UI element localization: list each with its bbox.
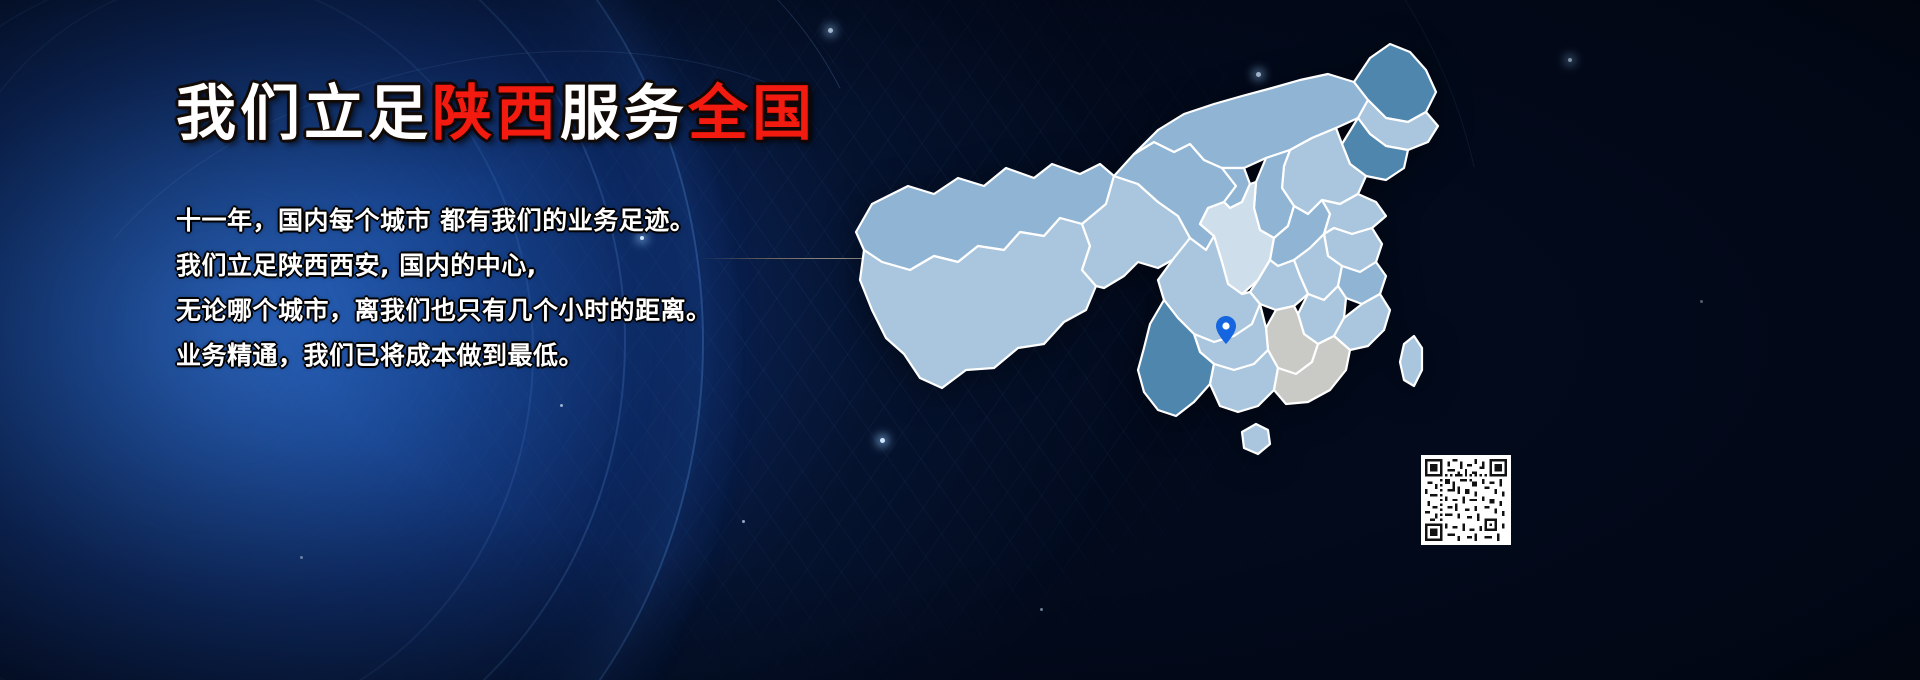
body-copy: 十一年，国内每个城市 都有我们的业务足迹。 我们立足陕西西安, 国内的中心, 无… xyxy=(176,198,712,378)
headline-segment-1: 我们立足 xyxy=(176,79,432,149)
qr-code[interactable] xyxy=(1421,455,1511,545)
headline: 我们立足陕西服务全国 xyxy=(176,84,816,144)
body-line-3: 无论哪个城市，离我们也只有几个小时的距离。 xyxy=(176,288,712,333)
headline-segment-3: 服务 xyxy=(560,79,688,149)
body-line-4: 业务精通，我们已将成本做到最低。 xyxy=(176,333,712,378)
body-line-2: 我们立足陕西西安, 国内的中心, xyxy=(176,243,712,288)
headline-segment-2-accent: 陕西 xyxy=(432,79,560,149)
location-pin-icon[interactable] xyxy=(1216,316,1236,344)
banner-stage: 我们立足陕西服务全国 十一年，国内每个城市 都有我们的业务足迹。 我们立足陕西西… xyxy=(0,0,1920,680)
map-region-taiwan xyxy=(1400,336,1422,386)
map-region-hainan xyxy=(1242,424,1270,454)
body-line-1: 十一年，国内每个城市 都有我们的业务足迹。 xyxy=(176,198,712,243)
headline-segment-4-accent: 全国 xyxy=(688,79,816,149)
